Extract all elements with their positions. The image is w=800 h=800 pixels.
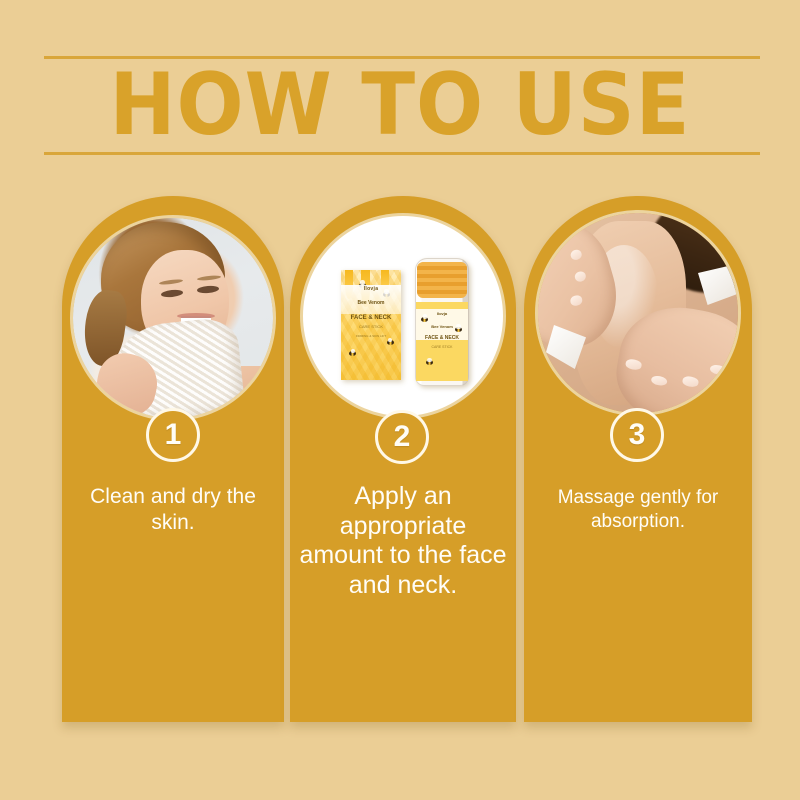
step-card-3[interactable]: 3 Massage gently for absorption. — [524, 196, 752, 722]
hands-massaging-neck-photo — [538, 213, 738, 413]
bee-icon — [383, 292, 390, 297]
step-caption-3: Massage gently for absorption. — [530, 486, 746, 534]
step-number-badge-1: 1 — [146, 408, 200, 462]
step-1-image — [73, 218, 273, 418]
tube-brand: Ilovja — [415, 312, 469, 316]
step-number-badge-2: 2 — [375, 410, 429, 464]
bee-icon — [349, 351, 356, 356]
carton-brand: Ilovja — [341, 287, 401, 292]
page-title: HOW TO USE — [0, 60, 800, 150]
step-card-2[interactable]: Ilovja Bee Venom FACE & NECK CARE STICK … — [290, 196, 516, 722]
fingernail — [569, 295, 583, 308]
product-stick-tube: Ilovja Bee Venom FACE & NECK CARE STICK — [415, 258, 469, 386]
carton-name: FACE & NECK — [341, 315, 401, 321]
header: HOW TO USE — [0, 46, 800, 166]
fingernail — [625, 359, 642, 371]
step-2-image: Ilovja Bee Venom FACE & NECK CARE STICK … — [303, 216, 503, 416]
honey-drip-icon — [345, 270, 353, 299]
carton-line: Bee Venom — [341, 301, 401, 306]
step-caption-1: Clean and dry the skin. — [68, 484, 278, 537]
fingernail — [710, 364, 727, 376]
woman-drying-face-with-towel-photo — [73, 218, 273, 418]
tube-cap — [417, 262, 467, 298]
bee-icon — [387, 340, 394, 345]
header-rule-bottom — [44, 152, 760, 155]
tube-subtitle: CARE STICK — [415, 346, 469, 350]
step-3-image — [538, 213, 738, 413]
fingernail — [682, 376, 699, 388]
step-card-1[interactable]: 1 Clean and dry the skin. — [62, 196, 284, 722]
carton-subtitle: CARE STICK — [341, 325, 401, 329]
step-caption-2: Apply an appropriate amount to the face … — [296, 482, 510, 600]
fingernail — [556, 231, 570, 244]
fingernail — [651, 375, 668, 387]
fingernail — [573, 270, 587, 283]
tube-line: Bee Venom — [415, 325, 469, 329]
fingernail — [569, 248, 583, 261]
step-number-badge-3: 3 — [610, 408, 664, 462]
steps-container: 1 Clean and dry the skin. Ilovja Bee Ven… — [0, 196, 800, 736]
carton-tagline: FIRMING & SKIN LIFT — [341, 335, 401, 338]
product-carton: Ilovja Bee Venom FACE & NECK CARE STICK … — [341, 270, 401, 380]
bee-venom-face-neck-care-stick-product-photo: Ilovja Bee Venom FACE & NECK CARE STICK … — [303, 216, 503, 416]
tube-name: FACE & NECK — [415, 336, 469, 341]
